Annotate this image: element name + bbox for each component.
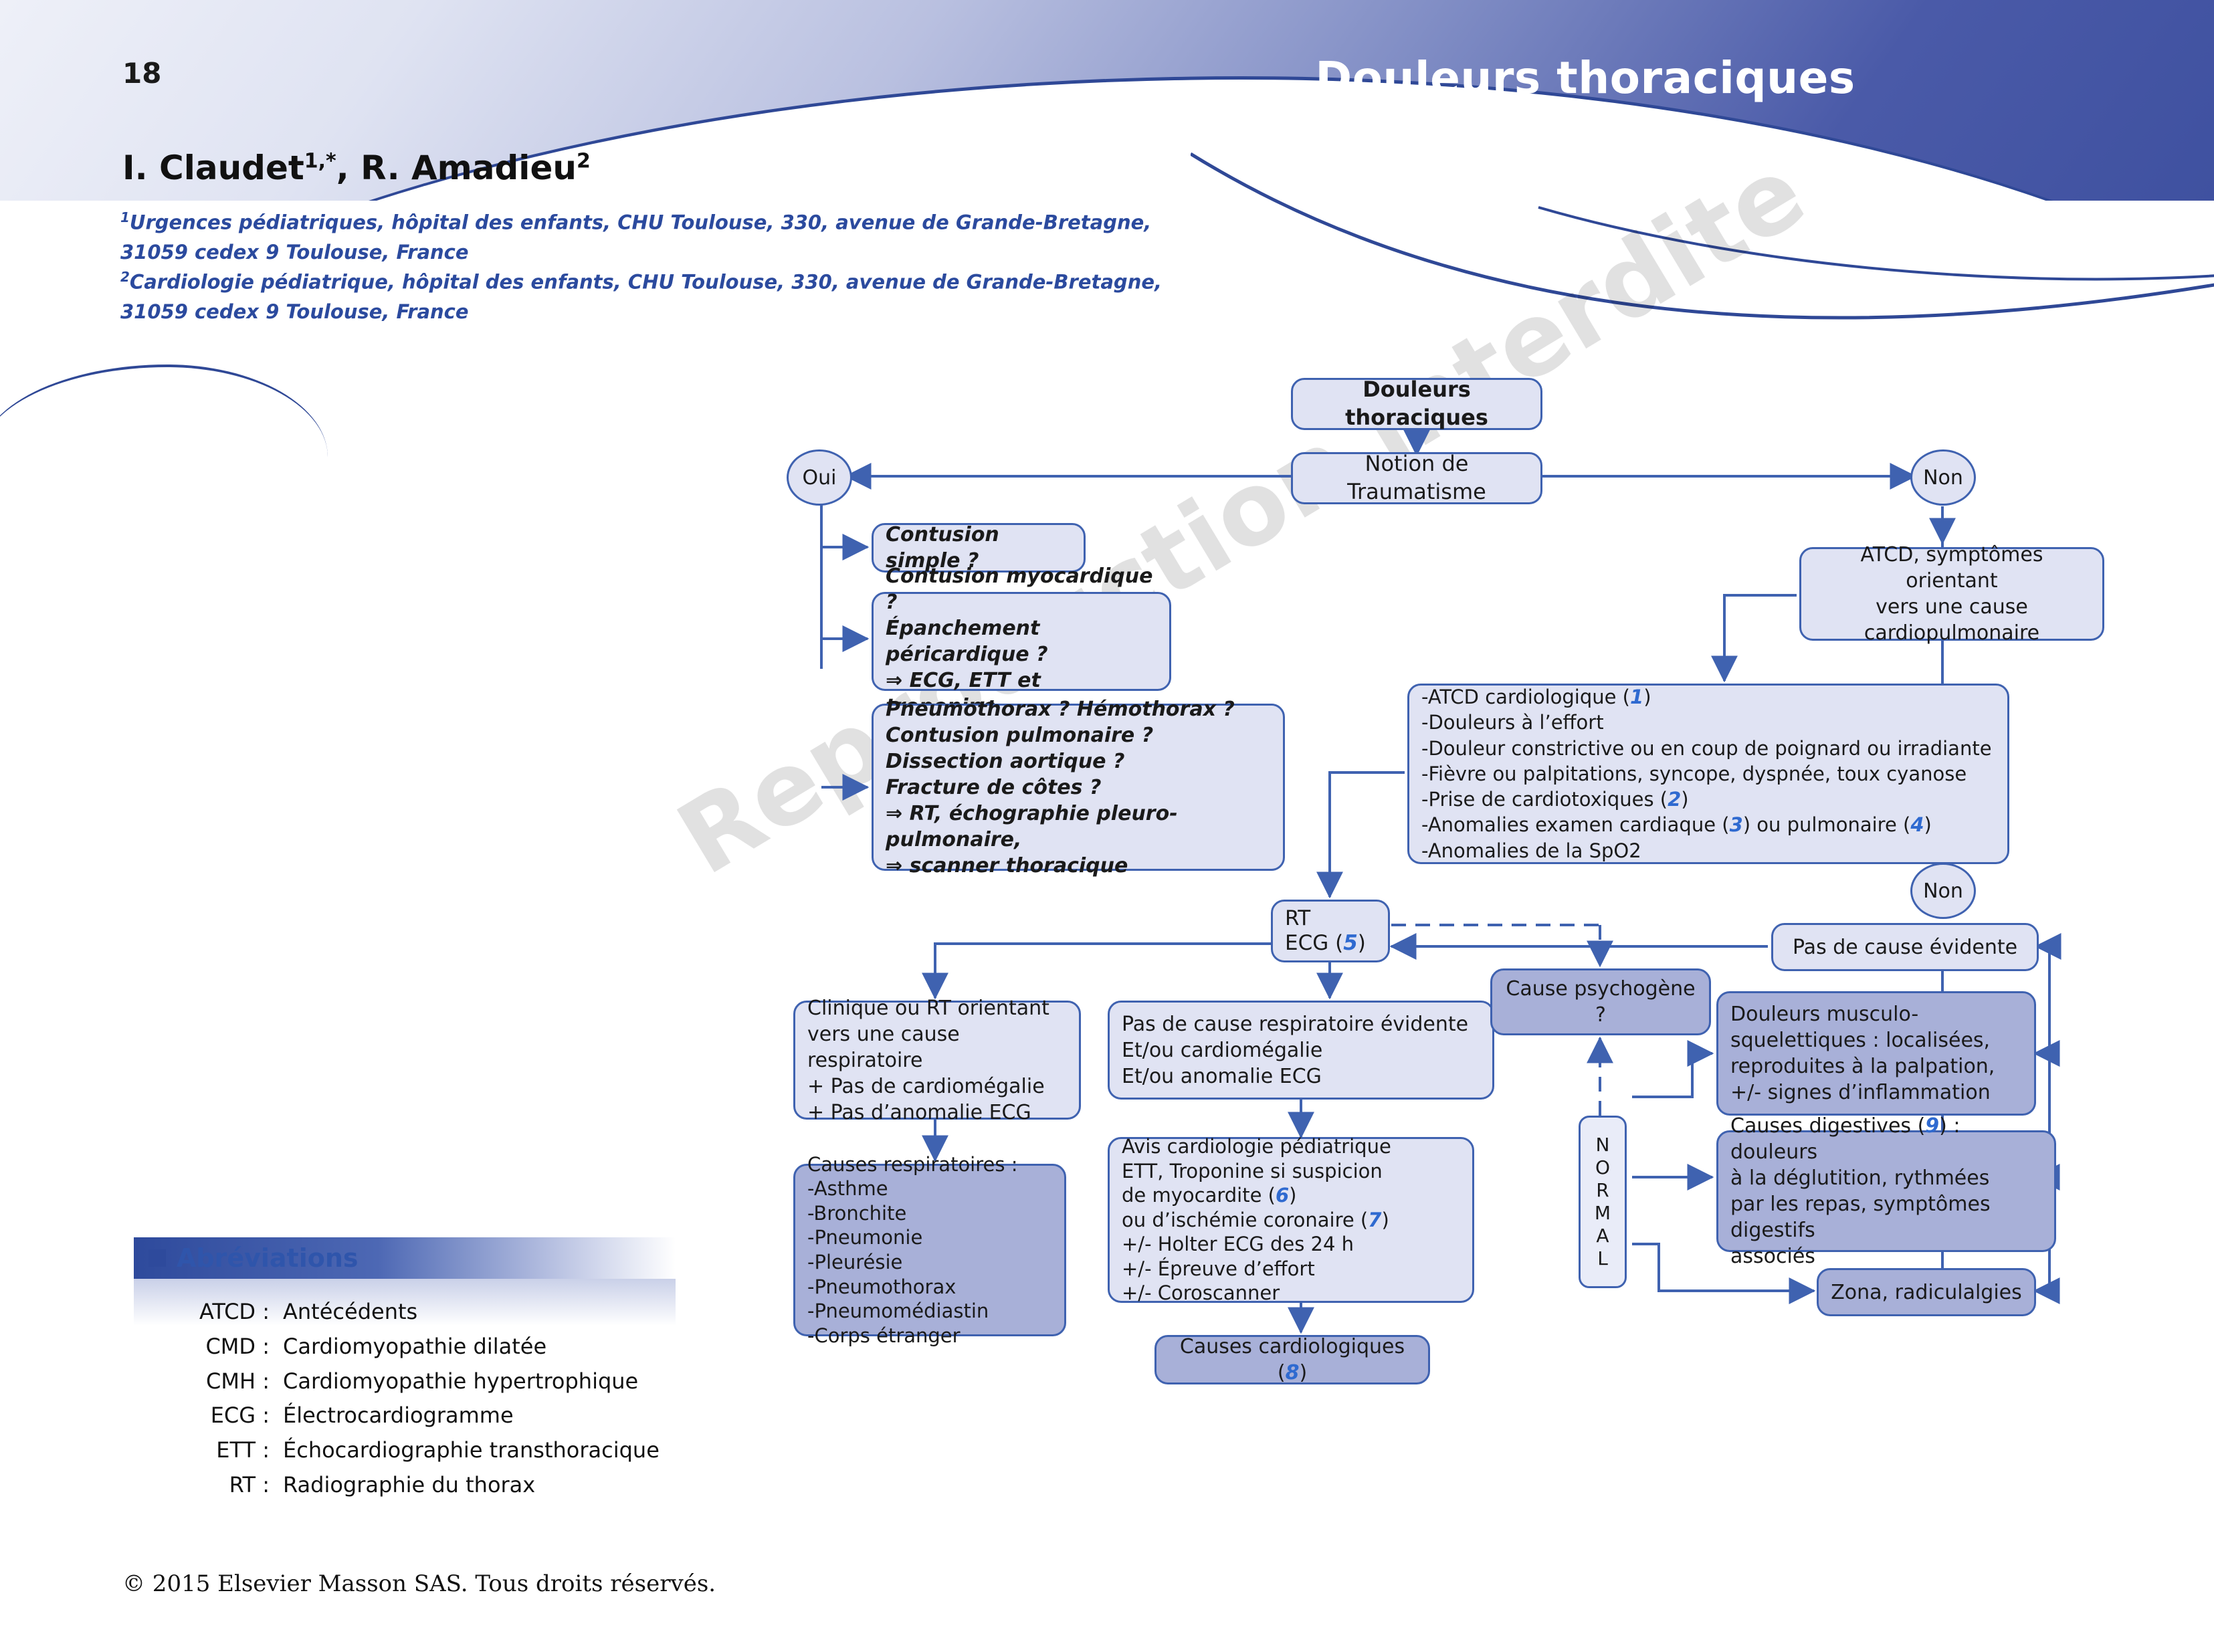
normal-letter: A: [1596, 1225, 1609, 1247]
abbreviation-value: Radiographie du thorax: [283, 1468, 676, 1503]
causes-resp-item: -Pleurésie: [807, 1250, 1052, 1275]
abbreviation-key: CMH :: [173, 1364, 283, 1399]
avis-line: +/- Coroscanner: [1122, 1281, 1460, 1306]
criteria-line: -Douleurs à l’effort: [1421, 710, 1995, 735]
normal-letter: O: [1595, 1156, 1610, 1179]
abbreviations-list: ATCD :Antécédents CMD :Cardiomyopathie d…: [134, 1295, 676, 1503]
node-douleurs-musculo-squelettiques: Douleurs musculo- squelettiques : locali…: [1716, 991, 2036, 1116]
abbreviation-key: ATCD :: [173, 1295, 283, 1330]
rt-line: RT: [1285, 906, 1376, 931]
node-rt-ecg: RT ECG (5): [1271, 900, 1390, 962]
ecg-line: ECG (5): [1285, 931, 1376, 956]
node-contusion-myocardique: Contusion myocardique ? Épanchement péri…: [872, 592, 1171, 691]
causes-resp-title: Causes respiratoires :: [807, 1152, 1052, 1177]
abbreviations-header: Abréviations: [134, 1237, 676, 1279]
abbreviations-heading: Abréviations: [177, 1243, 359, 1273]
abbreviation-key: ECG :: [173, 1399, 283, 1433]
criteria-line: -ATCD cardiologique (1): [1421, 684, 1995, 710]
abbreviation-value: Antécédents: [283, 1295, 676, 1330]
abbreviations-panel: Abréviations ATCD :Antécédents CMD :Card…: [134, 1237, 676, 1503]
abbreviation-row: ECG :Électrocardiogramme: [173, 1399, 676, 1433]
normal-letter: L: [1597, 1247, 1608, 1270]
abbreviation-row: ETT :Échocardiographie transthoracique: [173, 1433, 676, 1468]
branch-yes: Oui: [787, 449, 852, 506]
abbreviation-value: Cardiomyopathie dilatée: [283, 1330, 676, 1364]
bullet-square-icon: [148, 1249, 166, 1267]
normal-letter: R: [1596, 1179, 1609, 1202]
causes-resp-item: -Pneumothorax: [807, 1275, 1052, 1300]
node-trauma-question: Notion de Traumatisme: [1291, 452, 1542, 504]
criteria-line: -Anomalies de la SpO2: [1421, 838, 1995, 863]
causes-resp-item: -Pneumomédiastin: [807, 1299, 1052, 1324]
abbreviation-row: CMD :Cardiomyopathie dilatée: [173, 1330, 676, 1364]
criteria-line: -Prise de cardiotoxiques (2): [1421, 787, 1995, 812]
branch-no-right: Non: [1910, 863, 1976, 919]
normal-letter: M: [1595, 1202, 1611, 1225]
abbreviation-value: Cardiomyopathie hypertrophique: [283, 1364, 676, 1399]
node-pas-cause-respiratoire: Pas de cause respiratoire évidente Et/ou…: [1108, 1001, 1494, 1100]
node-atcd-symptomes: ATCD, symptômes orientant vers une cause…: [1799, 547, 2104, 641]
avis-line: ou d’ischémie coronaire (7): [1122, 1208, 1460, 1233]
criteria-line: -Fièvre ou palpitations, syncope, dyspné…: [1421, 761, 1995, 787]
abbreviation-key: CMD :: [173, 1330, 283, 1364]
causes-resp-item: -Corps étranger: [807, 1324, 1052, 1348]
normal-letter: N: [1596, 1134, 1610, 1156]
criteria-line: -Anomalies examen cardiaque (3) ou pulmo…: [1421, 812, 1995, 837]
node-causes-digestives: Causes digestives (9) : douleurs à la dé…: [1716, 1130, 2056, 1252]
node-pneumothorax-group: Pneumothorax ? Hémothorax ? Contusion pu…: [872, 704, 1285, 871]
abbreviation-row: ATCD :Antécédents: [173, 1295, 676, 1330]
node-cardiac-criteria: -ATCD cardiologique (1) -Douleurs à l’ef…: [1407, 684, 2009, 864]
node-start: Douleurs thoraciques: [1291, 378, 1542, 430]
copyright-footer: © 2015 Elsevier Masson SAS. Tous droits …: [122, 1570, 716, 1597]
abbreviation-value: Échocardiographie transthoracique: [283, 1433, 676, 1468]
node-clinique-rt: Clinique ou RT orientant vers une cause …: [793, 1001, 1081, 1120]
avis-line: +/- Holter ECG des 24 h: [1122, 1232, 1460, 1257]
avis-line: ETT, Troponine si suspicion: [1122, 1159, 1460, 1184]
node-zona-radiculalgies: Zona, radiculalgies: [1817, 1268, 2036, 1316]
avis-line: Avis cardiologie pédiatrique: [1122, 1134, 1460, 1159]
abbreviation-row: CMH :Cardiomyopathie hypertrophique: [173, 1364, 676, 1399]
avis-line: +/- Épreuve d’effort: [1122, 1257, 1460, 1281]
avis-line: de myocardite (6): [1122, 1183, 1460, 1208]
abbreviation-value: Électrocardiogramme: [283, 1399, 676, 1433]
abbreviation-key: ETT :: [173, 1433, 283, 1468]
node-normal-label: N O R M A L: [1579, 1116, 1627, 1288]
abbreviation-key: RT :: [173, 1468, 283, 1503]
causes-resp-item: -Asthme: [807, 1176, 1052, 1201]
abbreviation-row: RT :Radiographie du thorax: [173, 1468, 676, 1503]
node-causes-cardiologiques: Causes cardiologiques (8): [1154, 1335, 1430, 1384]
node-avis-cardiologie: Avis cardiologie pédiatrique ETT, Tropon…: [1108, 1137, 1474, 1303]
causes-resp-item: -Bronchite: [807, 1201, 1052, 1226]
node-pas-cause-evidente: Pas de cause évidente: [1771, 923, 2039, 971]
node-causes-respiratoires: Causes respiratoires : -Asthme -Bronchit…: [793, 1164, 1066, 1336]
node-cause-psychogene: Cause psychogène ?: [1490, 968, 1711, 1035]
causes-resp-item: -Pneumonie: [807, 1225, 1052, 1250]
criteria-line: -Douleur constrictive ou en coup de poig…: [1421, 736, 1995, 761]
branch-no-top: Non: [1910, 449, 1976, 506]
